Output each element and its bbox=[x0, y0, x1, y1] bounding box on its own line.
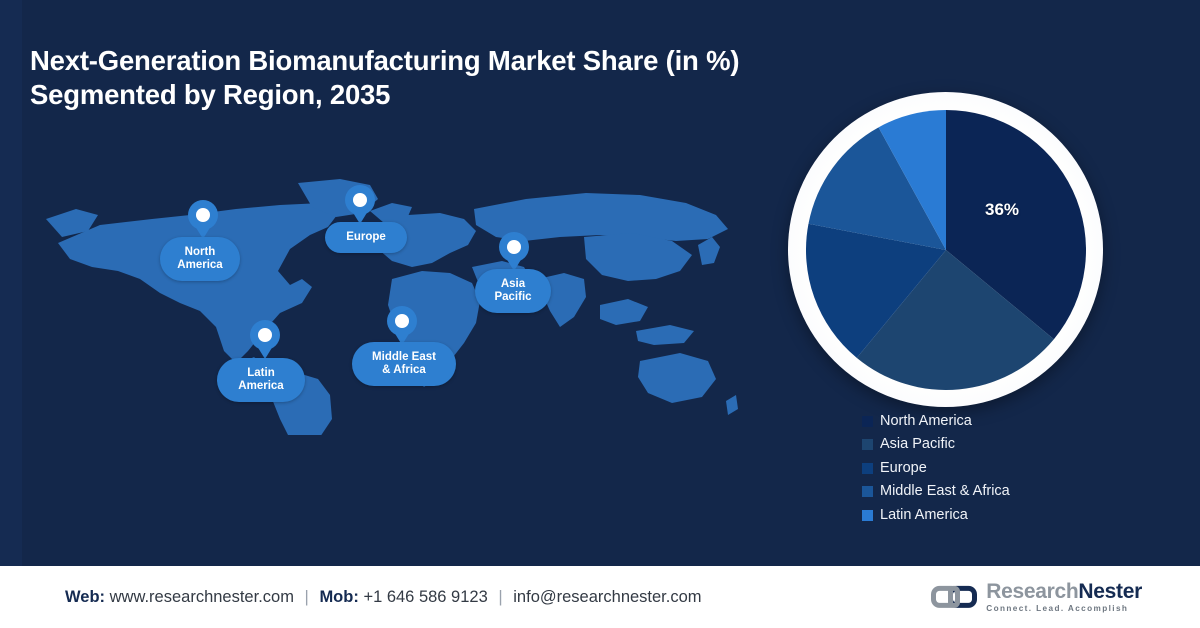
pin-head-europe bbox=[345, 185, 375, 215]
pin-dot-north-america bbox=[196, 208, 210, 222]
legend-swatch-latin-america bbox=[862, 510, 873, 521]
logo-word-nester: Nester bbox=[1078, 580, 1142, 603]
pie-chart: 36% bbox=[770, 78, 1120, 408]
footer-separator-2: | bbox=[498, 588, 502, 606]
legend-item-middle-east-africa[interactable]: Middle East & Africa bbox=[862, 483, 1010, 501]
research-nester-logo[interactable]: ResearchNester Connect. Lead. Accomplish bbox=[931, 581, 1142, 613]
map-label-asia-pacific[interactable]: Asia Pacific bbox=[475, 269, 551, 313]
map-pin-europe[interactable] bbox=[345, 185, 375, 215]
legend-label-latin-america: Latin America bbox=[880, 508, 968, 523]
map-pin-middle-east-africa[interactable] bbox=[387, 306, 417, 336]
footer-mob-value[interactable]: +1 646 586 9123 bbox=[363, 588, 487, 606]
pin-dot-middle-east-africa bbox=[395, 314, 409, 328]
legend-label-north-america: North America bbox=[880, 414, 972, 429]
footer-contact: Web: www.researchnester.com | Mob: +1 64… bbox=[65, 588, 702, 607]
footer-separator-1: | bbox=[305, 588, 309, 606]
map-pin-north-america[interactable] bbox=[188, 200, 218, 230]
legend-swatch-asia-pacific bbox=[862, 439, 873, 450]
legend-swatch-europe bbox=[862, 463, 873, 474]
left-edge-accent bbox=[0, 0, 22, 566]
map-label-north-america[interactable]: North America bbox=[160, 237, 240, 281]
chain-link-icon bbox=[931, 584, 977, 610]
pie-slice-label-north-america: 36% bbox=[985, 200, 1019, 220]
pin-dot-europe bbox=[353, 193, 367, 207]
chart-legend: North America Asia Pacific Europe Middle… bbox=[862, 412, 1010, 530]
logo-word-research: Research bbox=[986, 580, 1078, 603]
pin-dot-latin-america bbox=[258, 328, 272, 342]
legend-label-middle-east-africa: Middle East & Africa bbox=[880, 484, 1010, 499]
footer-email[interactable]: info@researchnester.com bbox=[513, 588, 701, 606]
pie-slices bbox=[806, 110, 1086, 390]
pin-head-north-america bbox=[188, 200, 218, 230]
pin-head-asia-pacific bbox=[499, 232, 529, 262]
page-title-line-1: Next-Generation Biomanufacturing Market … bbox=[30, 44, 890, 78]
map-label-latin-america[interactable]: Latin America bbox=[217, 358, 305, 402]
legend-swatch-middle-east-africa bbox=[862, 486, 873, 497]
pin-dot-asia-pacific bbox=[507, 240, 521, 254]
map-label-europe[interactable]: Europe bbox=[325, 222, 407, 253]
map-label-middle-east-africa[interactable]: Middle East & Africa bbox=[352, 342, 456, 386]
world-map-graphic bbox=[40, 175, 740, 435]
footer-mob-label: Mob: bbox=[319, 588, 358, 606]
legend-item-latin-america[interactable]: Latin America bbox=[862, 506, 1010, 524]
pin-head-latin-america bbox=[250, 320, 280, 350]
legend-item-europe[interactable]: Europe bbox=[862, 459, 1010, 477]
map-pin-latin-america[interactable] bbox=[250, 320, 280, 350]
legend-swatch-north-america bbox=[862, 416, 873, 427]
legend-label-europe: Europe bbox=[880, 461, 927, 476]
pin-head-middle-east-africa bbox=[387, 306, 417, 336]
page-title-line-2: Segmented by Region, 2035 bbox=[30, 78, 890, 112]
footer-web-label: Web: bbox=[65, 588, 105, 606]
logo-wordmark: ResearchNester bbox=[986, 581, 1142, 602]
footer-bar: Web: www.researchnester.com | Mob: +1 64… bbox=[0, 566, 1200, 628]
logo-text: ResearchNester Connect. Lead. Accomplish bbox=[986, 581, 1142, 613]
legend-label-asia-pacific: Asia Pacific bbox=[880, 437, 955, 452]
page-title: Next-Generation Biomanufacturing Market … bbox=[30, 44, 890, 113]
footer-web-value[interactable]: www.researchnester.com bbox=[110, 588, 294, 606]
logo-tagline: Connect. Lead. Accomplish bbox=[986, 605, 1142, 613]
legend-item-asia-pacific[interactable]: Asia Pacific bbox=[862, 436, 1010, 454]
legend-item-north-america[interactable]: North America bbox=[862, 412, 1010, 430]
map-pin-asia-pacific[interactable] bbox=[499, 232, 529, 262]
world-map: North America Europe Asia Pacific Middle… bbox=[40, 175, 740, 435]
